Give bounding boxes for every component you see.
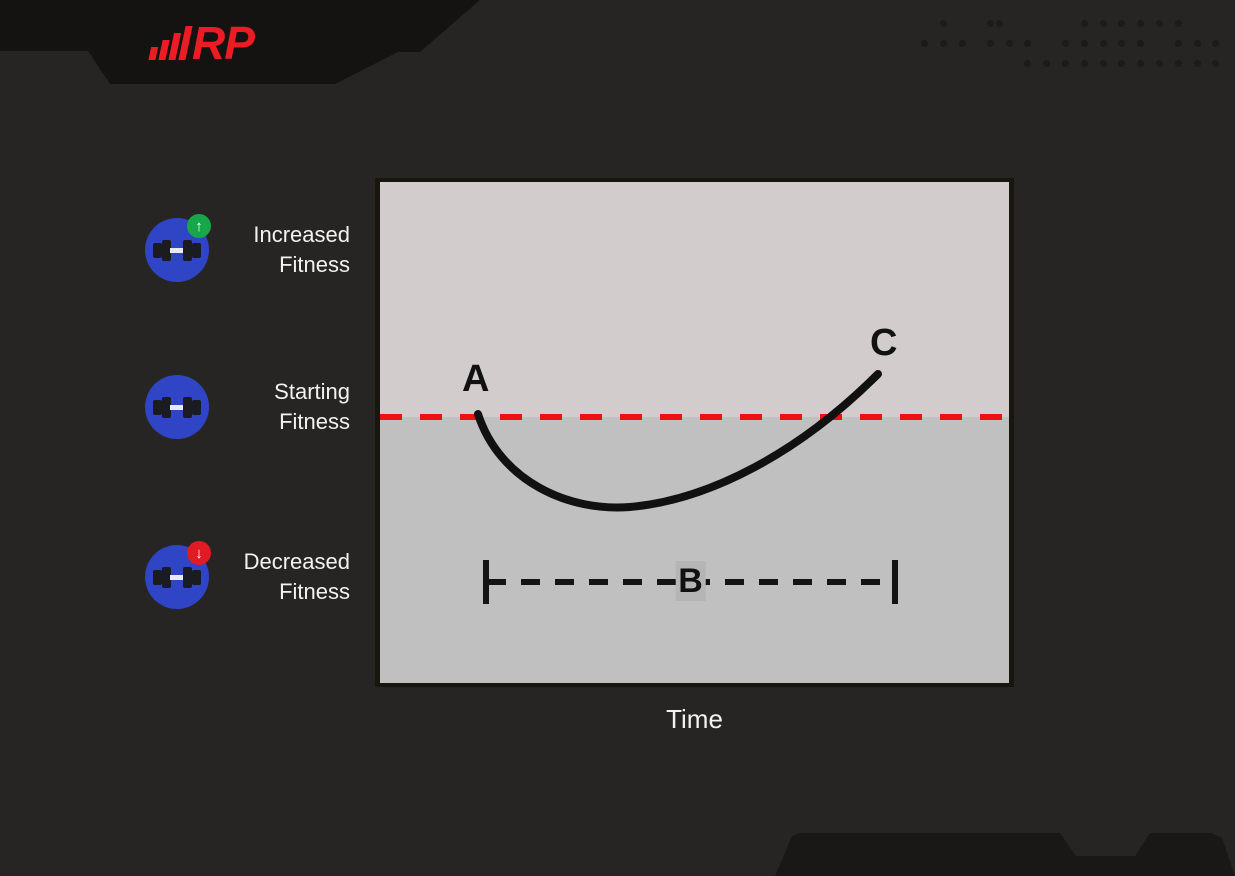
decorative-dot [1100, 40, 1107, 47]
decorative-dot [1118, 60, 1125, 67]
decorative-dot [1062, 60, 1069, 67]
decorative-dot [1100, 20, 1107, 27]
decorative-dot [1024, 60, 1031, 67]
dumbbell-icon [153, 240, 201, 261]
legend-label-increased-fitness: Increased Fitness [223, 220, 350, 280]
decorative-dot [1024, 40, 1031, 47]
duration-span-marker-b: B [483, 560, 898, 604]
legend-label-line1: Starting [223, 377, 350, 407]
decorative-dot [921, 40, 928, 47]
span-label-b: B [675, 561, 706, 601]
decorative-dot [1212, 40, 1219, 47]
legend-item-starting-fitness: Starting Fitness [145, 375, 350, 439]
fitness-fatigue-chart: A C B [380, 182, 1009, 683]
decorative-dot [1175, 40, 1182, 47]
rp-logo[interactable]: RP [152, 22, 254, 64]
decorative-dot [987, 40, 994, 47]
increased-fitness-icon-wrap: ↑ [145, 218, 209, 282]
decorative-dot [1137, 20, 1144, 27]
fitness-curve [380, 182, 1009, 683]
legend-item-decreased-fitness: ↓ Decreased Fitness [145, 545, 350, 609]
decorative-dot [1006, 40, 1013, 47]
decorative-dot [1100, 60, 1107, 67]
decorative-dot [1137, 40, 1144, 47]
legend-label-decreased-fitness: Decreased Fitness [223, 547, 350, 607]
decorative-dot [1175, 60, 1182, 67]
arrow-down-icon: ↓ [187, 541, 211, 565]
legend-label-starting-fitness: Starting Fitness [223, 377, 350, 437]
legend-label-line2: Fitness [223, 250, 350, 280]
legend-label-line1: Increased [223, 220, 350, 250]
starting-fitness-icon-wrap [145, 375, 209, 439]
bottom-right-decoration [750, 818, 1235, 876]
legend-label-line2: Fitness [223, 577, 350, 607]
decorative-dot [1137, 60, 1144, 67]
decorative-dot [1081, 20, 1088, 27]
decorative-dot [1194, 60, 1201, 67]
x-axis-caption: Time [380, 704, 1009, 735]
decorative-dot [1043, 60, 1050, 67]
decorative-dot [1062, 40, 1069, 47]
span-end-cap-right [892, 560, 898, 604]
arrow-up-icon: ↑ [187, 214, 211, 238]
decorative-dot [959, 40, 966, 47]
decorative-dot [1175, 20, 1182, 27]
decorative-dot [940, 20, 947, 27]
legend-label-line2: Fitness [223, 407, 350, 437]
legend-label-line1: Decreased [223, 547, 350, 577]
decorative-dot [1212, 60, 1219, 67]
decorative-dot [940, 40, 947, 47]
decorative-dot [1118, 20, 1125, 27]
dumbbell-icon [153, 397, 201, 418]
decorative-dot [987, 20, 994, 27]
decorative-dot [996, 20, 1003, 27]
decreased-fitness-icon-wrap: ↓ [145, 545, 209, 609]
decorative-dot [1194, 40, 1201, 47]
decorative-dot [1118, 40, 1125, 47]
curve-point-label-c: C [870, 324, 897, 362]
decorative-dot [1156, 20, 1163, 27]
curve-point-label-a: A [462, 360, 489, 398]
decorative-dot [1081, 40, 1088, 47]
decorative-dot [1081, 60, 1088, 67]
dumbbell-icon [153, 567, 201, 588]
logo-text: RP [192, 24, 254, 62]
dot-pattern-decoration [921, 20, 1221, 80]
decorative-dot [1156, 60, 1163, 67]
legend-item-increased-fitness: ↑ Increased Fitness [145, 218, 350, 282]
bar-chart-icon [148, 26, 192, 60]
